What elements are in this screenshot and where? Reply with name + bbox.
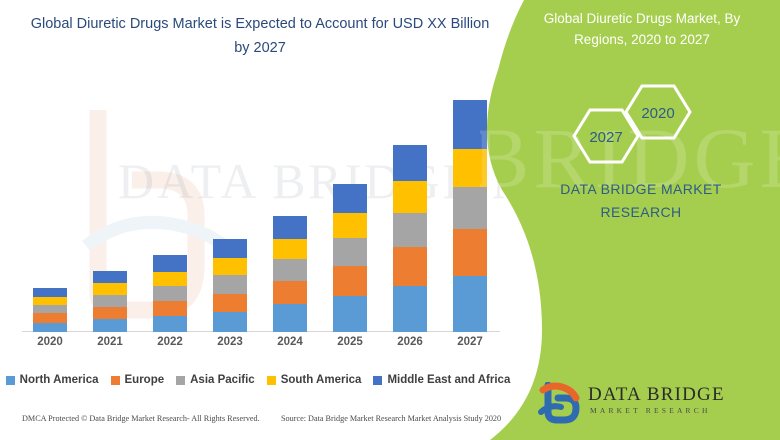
bar-segment xyxy=(393,181,427,212)
legend-item[interactable]: Asia Pacific xyxy=(176,374,255,386)
panel-brand-line1: DATA BRIDGE MARKET xyxy=(510,178,772,201)
legend-item[interactable]: Europe xyxy=(111,374,165,386)
bar-segment xyxy=(273,281,307,304)
hexagon-2020-label: 2020 xyxy=(641,105,674,122)
x-axis-label: 2021 xyxy=(80,336,140,348)
legend-item[interactable]: South America xyxy=(267,374,362,386)
logo-name: DATA BRIDGE xyxy=(588,384,725,405)
bar-segment xyxy=(93,271,127,284)
bar-segment xyxy=(333,296,367,332)
legend-swatch xyxy=(111,376,120,385)
legend-label: Europe xyxy=(125,374,165,386)
x-axis-label: 2025 xyxy=(320,336,380,348)
x-axis-label: 2023 xyxy=(200,336,260,348)
legend-swatch xyxy=(373,376,382,385)
x-axis-label: 2022 xyxy=(140,336,200,348)
panel-title: Global Diuretic Drugs Market, By Regions… xyxy=(516,8,768,50)
stacked-bar-chart xyxy=(20,100,500,332)
bar-segment xyxy=(333,213,367,239)
bar-segment xyxy=(153,286,187,301)
source-text: Source: Data Bridge Market Research Mark… xyxy=(281,414,501,423)
bar-segment xyxy=(333,266,367,296)
bar-segment xyxy=(93,283,127,295)
bar-column xyxy=(33,288,67,332)
bar-segment xyxy=(153,301,187,316)
panel-brand-line2: RESEARCH xyxy=(510,201,772,224)
footer: DMCA Protected © Data Bridge Market Rese… xyxy=(0,414,520,434)
bar-column xyxy=(273,216,307,332)
legend-swatch xyxy=(267,376,276,385)
bar-segment xyxy=(153,255,187,271)
data-bridge-logo: DATA BRIDGE MARKET RESEARCH xyxy=(538,380,738,426)
logo-subtitle: MARKET RESEARCH xyxy=(588,405,725,416)
bar-segment xyxy=(213,239,247,258)
bar-segment xyxy=(93,319,127,332)
bar-segment xyxy=(33,297,67,305)
bar-segment xyxy=(153,272,187,286)
legend-label: South America xyxy=(281,374,362,386)
bar-column xyxy=(393,145,427,332)
bar-segment xyxy=(213,275,247,294)
logo-b-mark xyxy=(538,382,582,424)
bar-segment xyxy=(393,286,427,332)
bar-segment xyxy=(153,316,187,332)
legend-label: Asia Pacific xyxy=(190,374,255,386)
x-axis-label: 2020 xyxy=(20,336,80,348)
brand-panel: BRIDGE Global Diuretic Drugs Market, By … xyxy=(480,0,780,440)
x-axis-label: 2026 xyxy=(380,336,440,348)
legend-swatch xyxy=(6,376,15,385)
bar-segment xyxy=(393,213,427,248)
bar-segment xyxy=(213,258,247,275)
chart-legend: North AmericaEuropeAsia PacificSouth Ame… xyxy=(0,374,516,386)
copyright-text: DMCA Protected © Data Bridge Market Rese… xyxy=(22,414,260,423)
bar-segment xyxy=(333,184,367,213)
legend-label: North America xyxy=(20,374,99,386)
bar-segment xyxy=(213,294,247,313)
bar-segment xyxy=(93,295,127,307)
bar-segment xyxy=(333,238,367,266)
infographic-canvas: DATA BRIDGE MARKET RESEARCH Global Diure… xyxy=(0,0,780,440)
bar-segment xyxy=(93,307,127,320)
bar-column xyxy=(93,271,127,332)
panel-brand-name: DATA BRIDGE MARKET RESEARCH xyxy=(510,178,772,224)
hexagon-2027-label: 2027 xyxy=(589,129,622,146)
x-axis-tick-labels: 20202021202220232024202520262027 xyxy=(20,336,500,354)
bar-segment xyxy=(33,313,67,322)
bar-segment xyxy=(33,288,67,297)
logo-text-block: DATA BRIDGE MARKET RESEARCH xyxy=(588,384,725,416)
bar-column xyxy=(333,184,367,332)
legend-swatch xyxy=(176,376,185,385)
bar-segment xyxy=(273,304,307,332)
bar-column xyxy=(213,239,247,332)
bar-segment xyxy=(273,216,307,239)
page-title: Global Diuretic Drugs Market is Expected… xyxy=(24,12,496,60)
bar-column xyxy=(153,255,187,332)
bar-segment xyxy=(273,239,307,259)
bar-segment xyxy=(33,305,67,313)
hexagon-pair: 2020 2027 xyxy=(546,82,726,182)
bar-segment xyxy=(273,259,307,281)
bar-segment xyxy=(393,247,427,285)
bar-segment xyxy=(393,145,427,181)
legend-item[interactable]: North America xyxy=(6,374,99,386)
bar-segment xyxy=(33,323,67,332)
x-axis-label: 2024 xyxy=(260,336,320,348)
bar-segment xyxy=(213,312,247,332)
